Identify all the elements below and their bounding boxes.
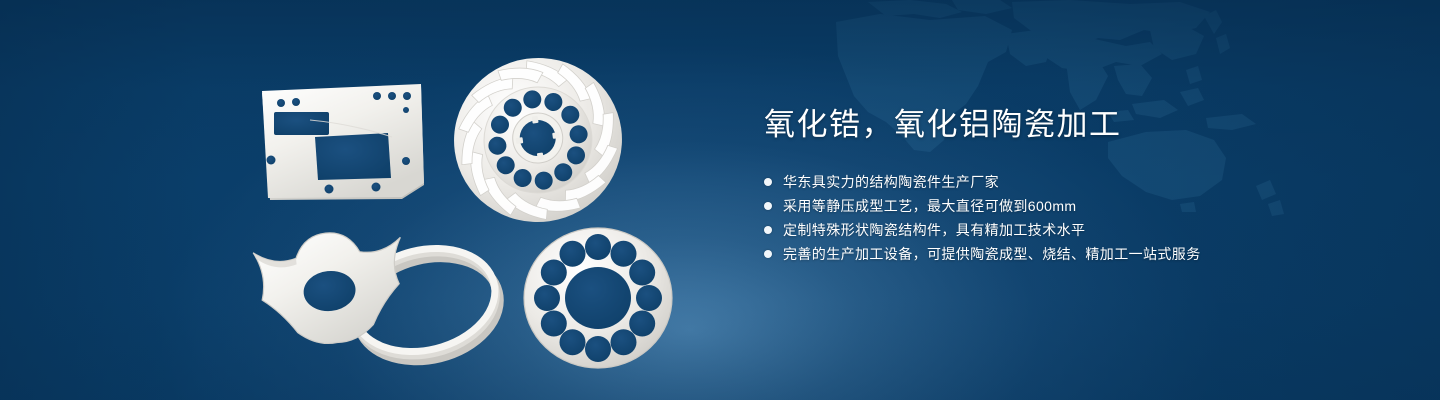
ceramic-cross-plate xyxy=(252,225,411,350)
bullet-dot-icon xyxy=(764,226,772,234)
hero-banner: 氧化锆，氧化铝陶瓷加工 华东具实力的结构陶瓷件生产厂家 采用等静压成型工艺，最大… xyxy=(0,0,1440,400)
feature-list: 华东具实力的结构陶瓷件生产厂家 采用等静压成型工艺，最大直径可做到600mm 定… xyxy=(764,170,1384,266)
bullet-dot-icon xyxy=(764,178,772,186)
ceramic-flat-plate xyxy=(262,84,424,200)
ceramic-perforated-disc xyxy=(524,228,672,368)
feature-text: 华东具实力的结构陶瓷件生产厂家 xyxy=(783,172,999,192)
ceramic-impeller-disc xyxy=(439,40,635,239)
bullet-dot-icon xyxy=(764,202,772,210)
bullet-dot-icon xyxy=(764,250,772,258)
feature-text: 定制特殊形状陶瓷结构件，具有精加工技术水平 xyxy=(783,220,1085,240)
banner-copy: 氧化锆，氧化铝陶瓷加工 华东具实力的结构陶瓷件生产厂家 采用等静压成型工艺，最大… xyxy=(764,108,1384,266)
list-item: 采用等静压成型工艺，最大直径可做到600mm xyxy=(764,194,1384,218)
product-photo-cluster xyxy=(0,0,720,400)
feature-text: 完善的生产加工设备，可提供陶瓷成型、烧结、精加工一站式服务 xyxy=(783,244,1201,264)
banner-headline: 氧化锆，氧化铝陶瓷加工 xyxy=(764,108,1384,142)
list-item: 华东具实力的结构陶瓷件生产厂家 xyxy=(764,170,1384,194)
list-item: 定制特殊形状陶瓷结构件，具有精加工技术水平 xyxy=(764,218,1384,242)
feature-text: 采用等静压成型工艺，最大直径可做到600mm xyxy=(783,196,1076,216)
list-item: 完善的生产加工设备，可提供陶瓷成型、烧结、精加工一站式服务 xyxy=(764,242,1384,266)
